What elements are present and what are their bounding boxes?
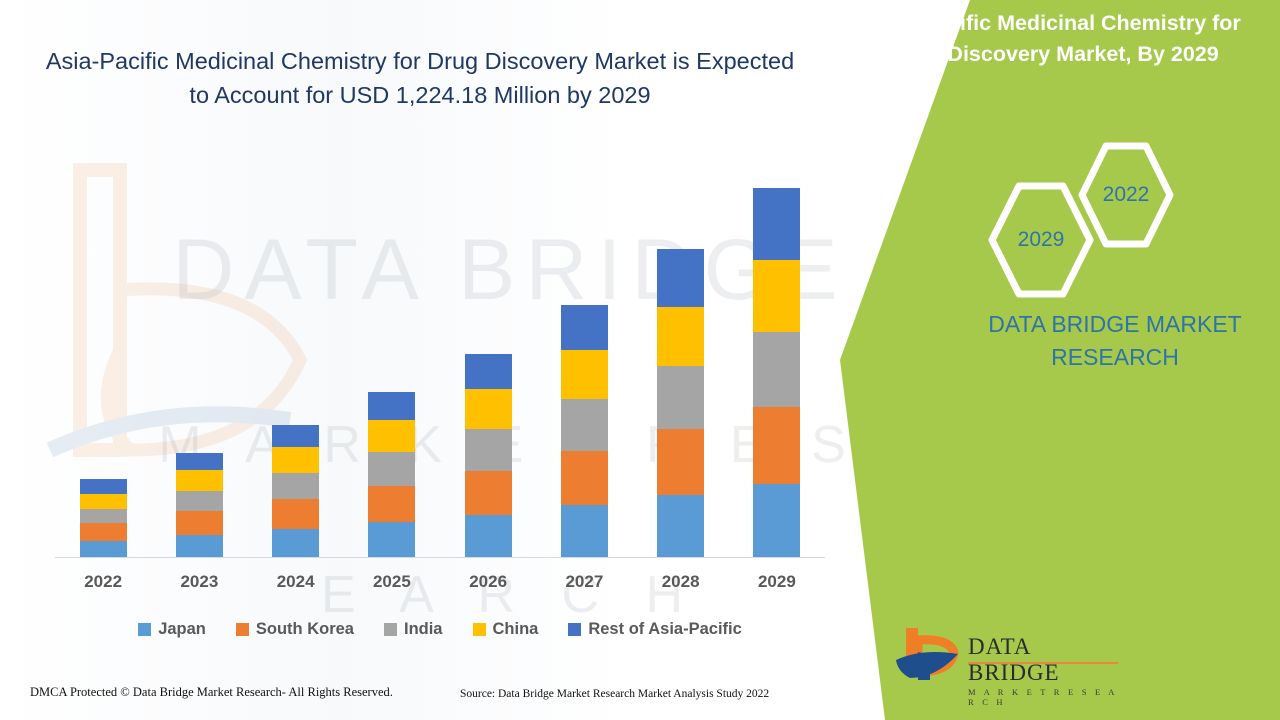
bar-segment-china[interactable] <box>561 350 608 400</box>
bar-segment-japan[interactable] <box>176 535 223 557</box>
chart-legend: JapanSouth KoreaIndiaChinaRest of Asia-P… <box>55 615 825 643</box>
logo-wordmark: DATA BRIDGE M A R K E T R E S E A R C H <box>968 634 1118 707</box>
logo-title: DATA BRIDGE <box>968 634 1118 686</box>
bar-container <box>55 160 825 557</box>
stacked-bar[interactable] <box>657 249 704 557</box>
x-axis-label-2028: 2028 <box>633 572 728 600</box>
x-axis-labels: 20222023202420252026202720282029 <box>55 572 825 600</box>
legend-swatch-south-korea <box>236 623 249 636</box>
stacked-bar[interactable] <box>80 479 127 557</box>
stacked-bar[interactable] <box>176 453 223 557</box>
bar-segment-india[interactable] <box>465 429 512 471</box>
hexagon-2029: 2029 <box>986 180 1096 300</box>
x-axis-label-2026: 2026 <box>441 572 536 600</box>
hexagon-2029-label: 2029 <box>986 180 1096 300</box>
legend-swatch-rest-of-asia-pacific <box>568 623 581 636</box>
stacked-bar[interactable] <box>753 188 800 557</box>
bar-segment-china[interactable] <box>272 447 319 473</box>
bar-segment-rest-of-asia-pacific[interactable] <box>657 249 704 307</box>
bar-group-2022 <box>56 160 151 557</box>
legend-label-china: China <box>493 620 539 639</box>
bar-segment-rest-of-asia-pacific[interactable] <box>80 479 127 494</box>
x-axis-label-2027: 2027 <box>537 572 632 600</box>
copyright-text: DMCA Protected © Data Bridge Market Rese… <box>30 685 393 700</box>
bar-segment-india[interactable] <box>368 452 415 486</box>
legend-swatch-china <box>473 623 486 636</box>
bar-segment-india[interactable] <box>176 491 223 512</box>
bar-segment-rest-of-asia-pacific[interactable] <box>272 425 319 447</box>
bar-segment-india[interactable] <box>753 332 800 407</box>
bar-segment-rest-of-asia-pacific[interactable] <box>753 188 800 260</box>
bar-segment-south-korea[interactable] <box>657 429 704 495</box>
bar-segment-rest-of-asia-pacific[interactable] <box>561 305 608 350</box>
legend-item-china[interactable]: China <box>473 620 539 639</box>
bar-segment-south-korea[interactable] <box>80 523 127 541</box>
bar-segment-south-korea[interactable] <box>561 451 608 506</box>
legend-item-south-korea[interactable]: South Korea <box>236 620 354 639</box>
bar-segment-japan[interactable] <box>272 529 319 557</box>
bar-segment-rest-of-asia-pacific[interactable] <box>176 453 223 470</box>
legend-label-india: India <box>404 620 443 639</box>
stacked-bar-chart <box>55 160 825 558</box>
bar-segment-japan[interactable] <box>561 505 608 557</box>
bar-group-2027 <box>537 160 632 557</box>
bar-segment-south-korea[interactable] <box>753 407 800 483</box>
stacked-bar[interactable] <box>272 425 319 557</box>
bar-segment-japan[interactable] <box>657 495 704 557</box>
bar-segment-china[interactable] <box>753 260 800 331</box>
logo-divider <box>968 662 1118 664</box>
brand-name: DATA BRIDGE MARKET RESEARCH <box>965 308 1265 374</box>
legend-swatch-india <box>384 623 397 636</box>
bar-segment-india[interactable] <box>657 366 704 429</box>
bar-segment-rest-of-asia-pacific[interactable] <box>368 392 415 420</box>
bar-group-2028 <box>633 160 728 557</box>
bar-segment-japan[interactable] <box>368 522 415 557</box>
chart-infographic: DATA BRIDGE M A R K E T R E S E A R C H … <box>0 0 1280 720</box>
bar-segment-rest-of-asia-pacific[interactable] <box>465 354 512 390</box>
bar-segment-india[interactable] <box>80 509 127 523</box>
page-title: Asia-Pacific Medicinal Chemistry for Dru… <box>40 44 800 112</box>
bar-segment-india[interactable] <box>561 399 608 451</box>
bar-segment-china[interactable] <box>368 420 415 452</box>
bar-segment-china[interactable] <box>80 494 127 510</box>
stacked-bar[interactable] <box>368 392 415 557</box>
bar-group-2029 <box>729 160 824 557</box>
bar-segment-india[interactable] <box>272 473 319 500</box>
bar-segment-south-korea[interactable] <box>368 486 415 523</box>
legend-label-rest-of-asia-pacific: Rest of Asia-Pacific <box>588 620 741 639</box>
stacked-bar[interactable] <box>561 305 608 557</box>
source-text: Source: Data Bridge Market Research Mark… <box>460 688 769 700</box>
bar-segment-japan[interactable] <box>753 484 800 557</box>
bar-group-2024 <box>248 160 343 557</box>
legend-item-rest-of-asia-pacific[interactable]: Rest of Asia-Pacific <box>568 620 741 639</box>
x-axis-label-2023: 2023 <box>152 572 247 600</box>
stacked-bar[interactable] <box>465 354 512 557</box>
legend-item-japan[interactable]: Japan <box>138 620 206 639</box>
hexagon-group: 2022 2029 <box>980 140 1190 280</box>
legend-label-south-korea: South Korea <box>256 620 354 639</box>
x-axis-line <box>55 557 825 558</box>
bar-segment-south-korea[interactable] <box>272 499 319 529</box>
bar-segment-south-korea[interactable] <box>465 471 512 516</box>
x-axis-label-2025: 2025 <box>344 572 439 600</box>
bar-segment-japan[interactable] <box>465 515 512 557</box>
bar-segment-japan[interactable] <box>80 541 127 557</box>
chart-pane: DATA BRIDGE M A R K E T R E S E A R C H … <box>0 0 900 720</box>
legend-item-india[interactable]: India <box>384 620 443 639</box>
bar-segment-china[interactable] <box>657 307 704 367</box>
bar-group-2025 <box>344 160 439 557</box>
bar-group-2023 <box>152 160 247 557</box>
x-axis-label-2024: 2024 <box>248 572 343 600</box>
x-axis-label-2022: 2022 <box>56 572 151 600</box>
legend-swatch-japan <box>138 623 151 636</box>
panel-title: Asia-Pacific Medicinal Chemistry for Dru… <box>845 8 1265 70</box>
legend-label-japan: Japan <box>158 620 206 639</box>
bar-segment-south-korea[interactable] <box>176 511 223 535</box>
bar-group-2026 <box>441 160 536 557</box>
x-axis-label-2029: 2029 <box>729 572 824 600</box>
bar-segment-china[interactable] <box>176 470 223 491</box>
logo-subtitle: M A R K E T R E S E A R C H <box>968 687 1118 707</box>
bar-segment-china[interactable] <box>465 389 512 429</box>
